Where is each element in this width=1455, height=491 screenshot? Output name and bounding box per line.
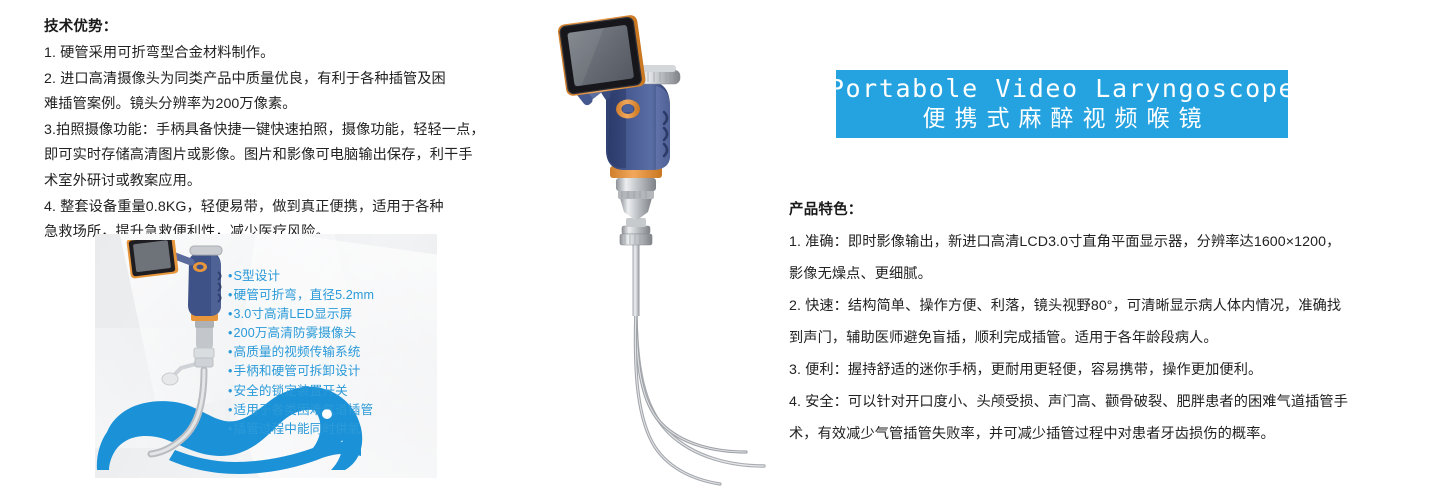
bullet-dot-icon: • (228, 422, 233, 436)
technical-advantages-section: 技术优势： 1. 硬管采用可折弯型合金材料制作。 2. 进口高清摄像头为同类产品… (44, 14, 544, 246)
product-features-section: 产品特色： 1. 准确：即时影像输出，新进口高清LCD3.0寸直角平面显示器，分… (789, 196, 1414, 450)
technical-advantages-line: 术室外研讨或教案应用。 (44, 169, 544, 195)
panel-bullet-item: •硬管可折弯，直径5.2mm (228, 286, 374, 305)
technical-advantages-line: 1. 硬管采用可折弯型合金材料制作。 (44, 41, 544, 67)
panel-bullet-label: 插管过程中能同时供氧 (234, 422, 361, 436)
panel-bullet-label: 硬管可折弯，直径5.2mm (234, 288, 375, 302)
product-features-line: 影像无燥点、更细腻。 (789, 258, 1414, 290)
bullet-dot-icon: • (228, 384, 233, 398)
product-features-line: 2. 快速：结构简单、操作方便、利落，镜头视野80°，可清晰显示病人体内情况，准… (789, 290, 1414, 322)
laryngoscope-product-photo (548, 8, 778, 488)
bullet-dot-icon: • (228, 345, 233, 359)
panel-bullet-item: •200万高清防雾摄像头 (228, 324, 374, 343)
bullet-dot-icon: • (228, 269, 233, 283)
panel-bullet-label: 200万高清防雾摄像头 (234, 326, 357, 340)
panel-bullet-item: •S型设计 (228, 267, 374, 286)
panel-bullet-label: 3.0寸高清LED显示屏 (234, 307, 353, 321)
panel-bullet-list: •S型设计 •硬管可折弯，直径5.2mm •3.0寸高清LED显示屏 •200万… (228, 267, 374, 439)
panel-bullet-item: •插管过程中能同时供氧 (228, 420, 374, 439)
panel-bullet-item: •适用于各类困难气道插管 (228, 401, 374, 420)
product-features-line: 3. 便利：握持舒适的迷你手柄，更耐用更轻便，容易携带，操作更加便利。 (789, 354, 1414, 386)
technical-advantages-heading: 技术优势： (44, 14, 544, 40)
product-title-banner: Portabole Video Laryngoscope 便携式麻醉视频喉镜 (836, 70, 1288, 138)
product-features-heading: 产品特色： (789, 196, 1414, 224)
panel-bullet-label: 安全的锁定装置开关 (234, 384, 348, 398)
product-feature-panel: •S型设计 •硬管可折弯，直径5.2mm •3.0寸高清LED显示屏 •200万… (95, 234, 437, 478)
banner-title-chinese: 便携式麻醉视频喉镜 (914, 103, 1211, 134)
bullet-dot-icon: • (228, 326, 233, 340)
bullet-dot-icon: • (228, 403, 233, 417)
bullet-dot-icon: • (228, 307, 233, 321)
technical-advantages-line: 即可实时存储高清图片或影像。图片和影像可电脑输出保存，利干手 (44, 143, 544, 169)
panel-bullet-label: 手柄和硬管可拆卸设计 (234, 364, 361, 378)
panel-bullet-item: •高质量的视频传输系统 (228, 343, 374, 362)
product-features-line: 到声门，辅助医师避免盲插，顺利完成插管。适用于各年龄段病人。 (789, 322, 1414, 354)
technical-advantages-line: 4. 整套设备重量0.8KG，轻便易带，做到真正便携，适用于各种 (44, 195, 544, 221)
panel-bullet-item: •3.0寸高清LED显示屏 (228, 305, 374, 324)
panel-bullet-item: •手柄和硬管可拆卸设计 (228, 362, 374, 381)
banner-title-english: Portabole Video Laryngoscope (829, 74, 1295, 103)
product-features-line: 术，有效减少气管插管失败率，并可减少插管过程中对患者牙齿损伤的概率。 (789, 418, 1414, 450)
technical-advantages-line: 3.拍照摄像功能：手柄具备快捷一键快速拍照，摄像功能，轻轻一点， (44, 118, 544, 144)
technical-advantages-line: 难插管案例。镜头分辨率为200万像素。 (44, 92, 544, 118)
product-features-line: 1. 准确：即时影像输出，新进口高清LCD3.0寸直角平面显示器，分辨率达160… (789, 226, 1414, 258)
bullet-dot-icon: • (228, 288, 233, 302)
panel-bullet-label: 高质量的视频传输系统 (234, 345, 361, 359)
panel-bullet-label: S型设计 (234, 269, 281, 283)
product-features-line: 4. 安全：可以针对开口度小、头颅受损、声门高、颧骨破裂、肥胖患者的困难气道插管… (789, 386, 1414, 418)
technical-advantages-line: 2. 进口高清摄像头为同类产品中质量优良，有利于各种插管及困 (44, 67, 544, 93)
bullet-dot-icon: • (228, 364, 233, 378)
panel-bullet-item: •安全的锁定装置开关 (228, 382, 374, 401)
panel-bullet-label: 适用于各类困难气道插管 (234, 403, 374, 417)
